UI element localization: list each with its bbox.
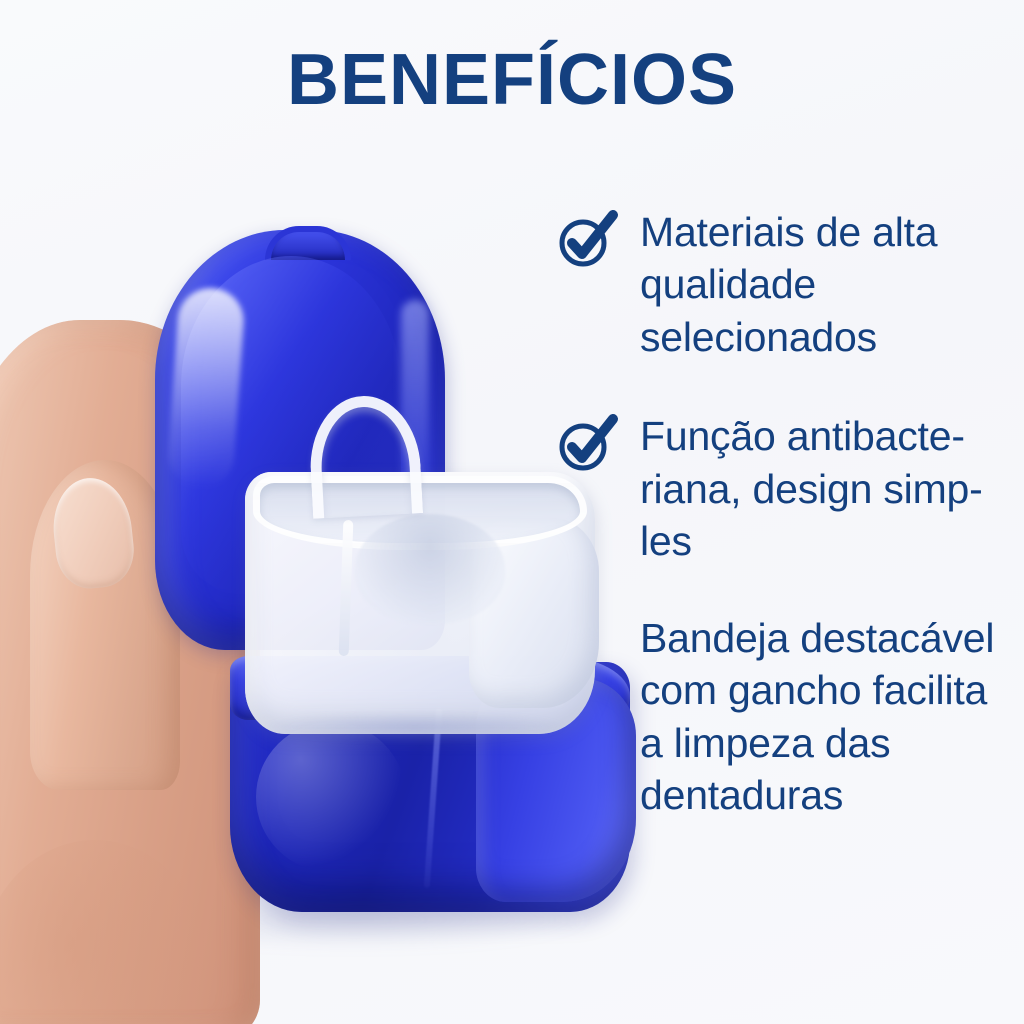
promo-banner: BENEFÍCIOS Materiais de alta qualidade s… <box>0 0 1024 1024</box>
lid-highlight-left <box>166 286 246 490</box>
benefit-item-3: Bandeja destacável com gancho facilita a… <box>556 612 1024 822</box>
lid-latch-notch <box>265 226 351 260</box>
base-highlight <box>256 722 406 872</box>
benefit-text-2: Função antibacte- riana, design simp- le… <box>640 410 1024 567</box>
tray-cavity <box>355 514 505 624</box>
benefit-item-2: Função antibacte- riana, design simp- le… <box>556 410 1024 567</box>
benefit-text-1: Materiais de alta qualidade selecionados <box>640 206 1024 363</box>
tray-contact-shadow <box>265 712 565 742</box>
benefit-text-3: Bandeja destacável com gancho facilita a… <box>640 612 1024 822</box>
check-circle-icon <box>556 414 620 474</box>
benefits-list: Materiais de alta qualidade selecionados… <box>556 206 1024 822</box>
benefit-item-1: Materiais de alta qualidade selecionados <box>556 206 1024 363</box>
palm-shading <box>0 840 210 1024</box>
check-circle-icon <box>556 210 620 270</box>
page-title: BENEFÍCIOS <box>0 44 1024 116</box>
thumbnail <box>48 474 137 592</box>
